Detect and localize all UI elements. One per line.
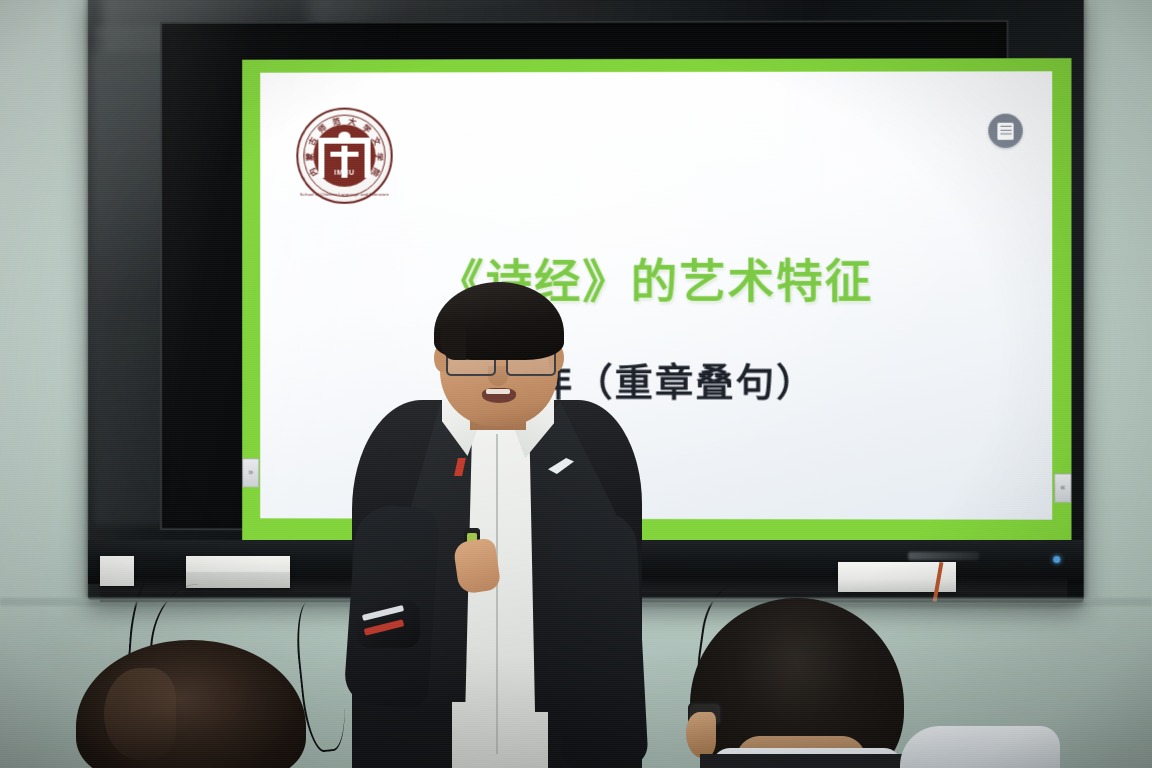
wall-socket-plate (100, 556, 134, 586)
slide-nav-left-chevron-icon[interactable]: » (242, 458, 259, 487)
university-crest-icon: IMNU School of Chinese Language and Lite… (296, 108, 392, 204)
presenter-nose (488, 366, 508, 386)
presenter-arm-right (549, 510, 648, 768)
slide-nav-right-chevron-icon[interactable]: « (1054, 473, 1071, 502)
audience-member-far-right (900, 726, 1060, 768)
presenter-sleeve-cuff (356, 600, 420, 648)
presenter-mouth (482, 388, 516, 403)
presenter-hand (453, 537, 502, 594)
classroom-photo-scene: IMNU School of Chinese Language and Lite… (0, 0, 1152, 768)
document-icon[interactable] (988, 114, 1022, 148)
audience-right-body (700, 754, 930, 768)
presenter-hair (434, 282, 564, 360)
document-icon-glyph (997, 122, 1013, 139)
bezel-reflection (94, 26, 168, 526)
audience-right-ear (686, 712, 716, 758)
power-led-indicator (1053, 556, 1060, 563)
crest-chinese-text: 内蒙古师范大学文学院 (296, 108, 392, 204)
presenter-figure (330, 282, 660, 768)
bezel-brand-mark-secondary (908, 552, 979, 560)
